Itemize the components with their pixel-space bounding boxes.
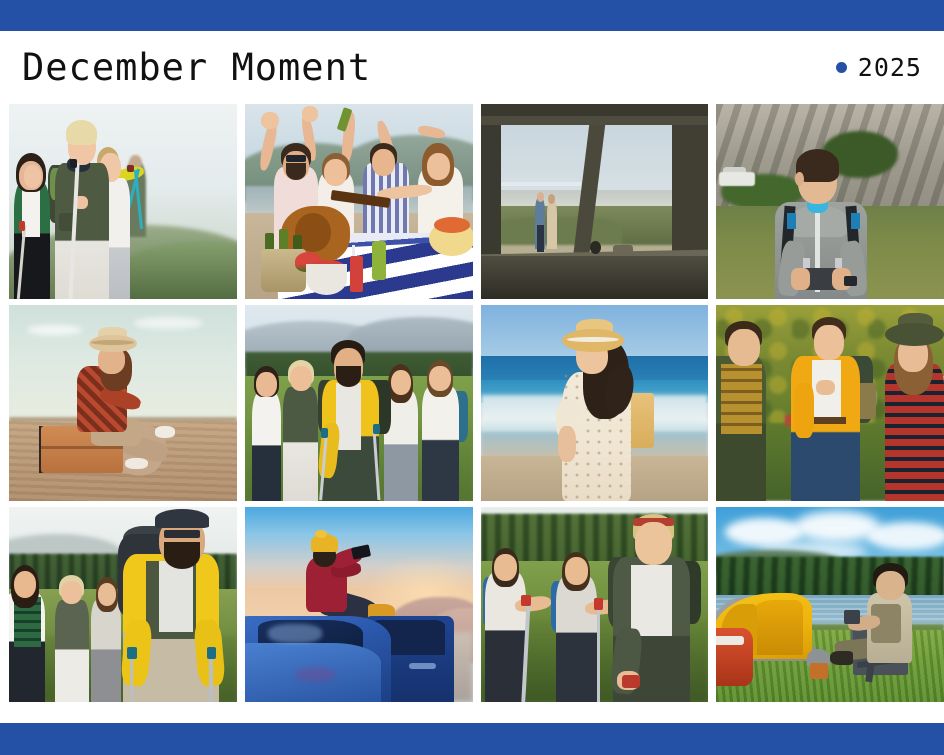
page-title: December Moment: [22, 49, 371, 86]
photo-cell-8[interactable]: [716, 305, 944, 500]
top-accent-bar: [0, 0, 944, 31]
photo-6-group-hiking-meadow: [245, 305, 473, 500]
photo-11-hikers-blue-backpacks: [481, 507, 709, 702]
photo-4-man-drone-controller: [716, 104, 944, 299]
photo-9-backpacker-leading-group: [9, 507, 237, 702]
photo-10-woman-car-roof-sunset: [245, 507, 473, 702]
photo-5-woman-suitcase-desert: [9, 305, 237, 500]
photo-7-woman-hat-shoreline: [481, 305, 709, 500]
bottom-accent-bar: [0, 723, 944, 755]
photo-cell-1[interactable]: [9, 104, 237, 299]
photo-1-hikers-selfie-ridge: [9, 104, 237, 299]
photo-12-lakeside-camping-tent: [716, 507, 944, 702]
photo-cell-12[interactable]: [716, 507, 944, 702]
photo-cell-6[interactable]: [245, 305, 473, 500]
photo-cell-11[interactable]: [481, 507, 709, 702]
photo-cell-4[interactable]: [716, 104, 944, 299]
photo-cell-9[interactable]: [9, 507, 237, 702]
photo-cell-2[interactable]: [245, 104, 473, 299]
dot-icon: [836, 62, 847, 73]
year-label: 2025: [858, 53, 922, 82]
photo-3-van-window-couple: [481, 104, 709, 299]
page-header: December Moment 2025: [0, 31, 944, 103]
calendar-page: December Moment 2025: [0, 0, 944, 755]
photo-cell-3[interactable]: [481, 104, 709, 299]
photo-cell-10[interactable]: [245, 507, 473, 702]
photo-cell-7[interactable]: [481, 305, 709, 500]
photo-2-beach-party-guitar: [245, 104, 473, 299]
photo-cell-5[interactable]: [9, 305, 237, 500]
photo-8-autumn-forest-hikers: [716, 305, 944, 500]
year-badge: 2025: [836, 53, 932, 82]
photo-grid: [9, 104, 944, 702]
